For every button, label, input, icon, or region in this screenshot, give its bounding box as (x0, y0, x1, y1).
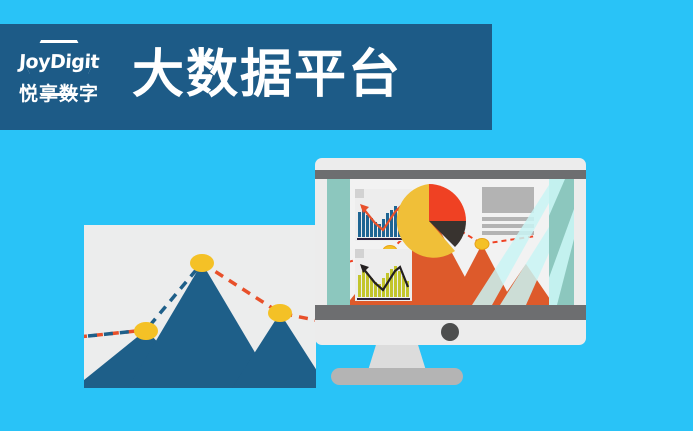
data-marker (190, 254, 214, 272)
data-marker (268, 304, 292, 322)
logo-subtitle: 悦享数字 (19, 85, 99, 104)
monitor-stand-base (331, 368, 463, 385)
card-axis-line (357, 298, 410, 300)
power-button-icon[interactable] (441, 323, 459, 341)
page-title: 大数据平台 (132, 49, 402, 101)
dashboard-content (350, 179, 549, 305)
pie-slice-red (429, 184, 466, 221)
illustration-canvas: JoyDigit 悦享数字 大数据平台 (0, 0, 693, 431)
brand-logo: JoyDigit 悦享数字 (0, 24, 118, 130)
glare-band-narrow (549, 179, 565, 239)
monitor-screen (327, 179, 574, 305)
dashboard-svg (350, 179, 549, 305)
data-marker (475, 239, 489, 250)
blue-mountain-svg (84, 225, 316, 388)
card-folded-corner (355, 249, 364, 258)
placeholder-line (482, 217, 534, 221)
logo-wordmark: JoyDigit (18, 53, 99, 72)
glare-band-wide (549, 209, 574, 305)
placeholder-image-block (482, 187, 534, 213)
mountain-area-chart-blue (84, 225, 316, 388)
card-folded-corner (355, 189, 364, 198)
data-marker (134, 322, 158, 340)
monitor-bottom-bar (315, 305, 586, 320)
bar-chart-olive (355, 249, 412, 301)
screen-side-band-left (327, 179, 350, 305)
header-band: JoyDigit 悦享数字 大数据平台 (0, 24, 492, 130)
monitor-top-bar (315, 170, 586, 179)
screen-glare-right (549, 179, 574, 305)
desktop-monitor (315, 158, 586, 345)
